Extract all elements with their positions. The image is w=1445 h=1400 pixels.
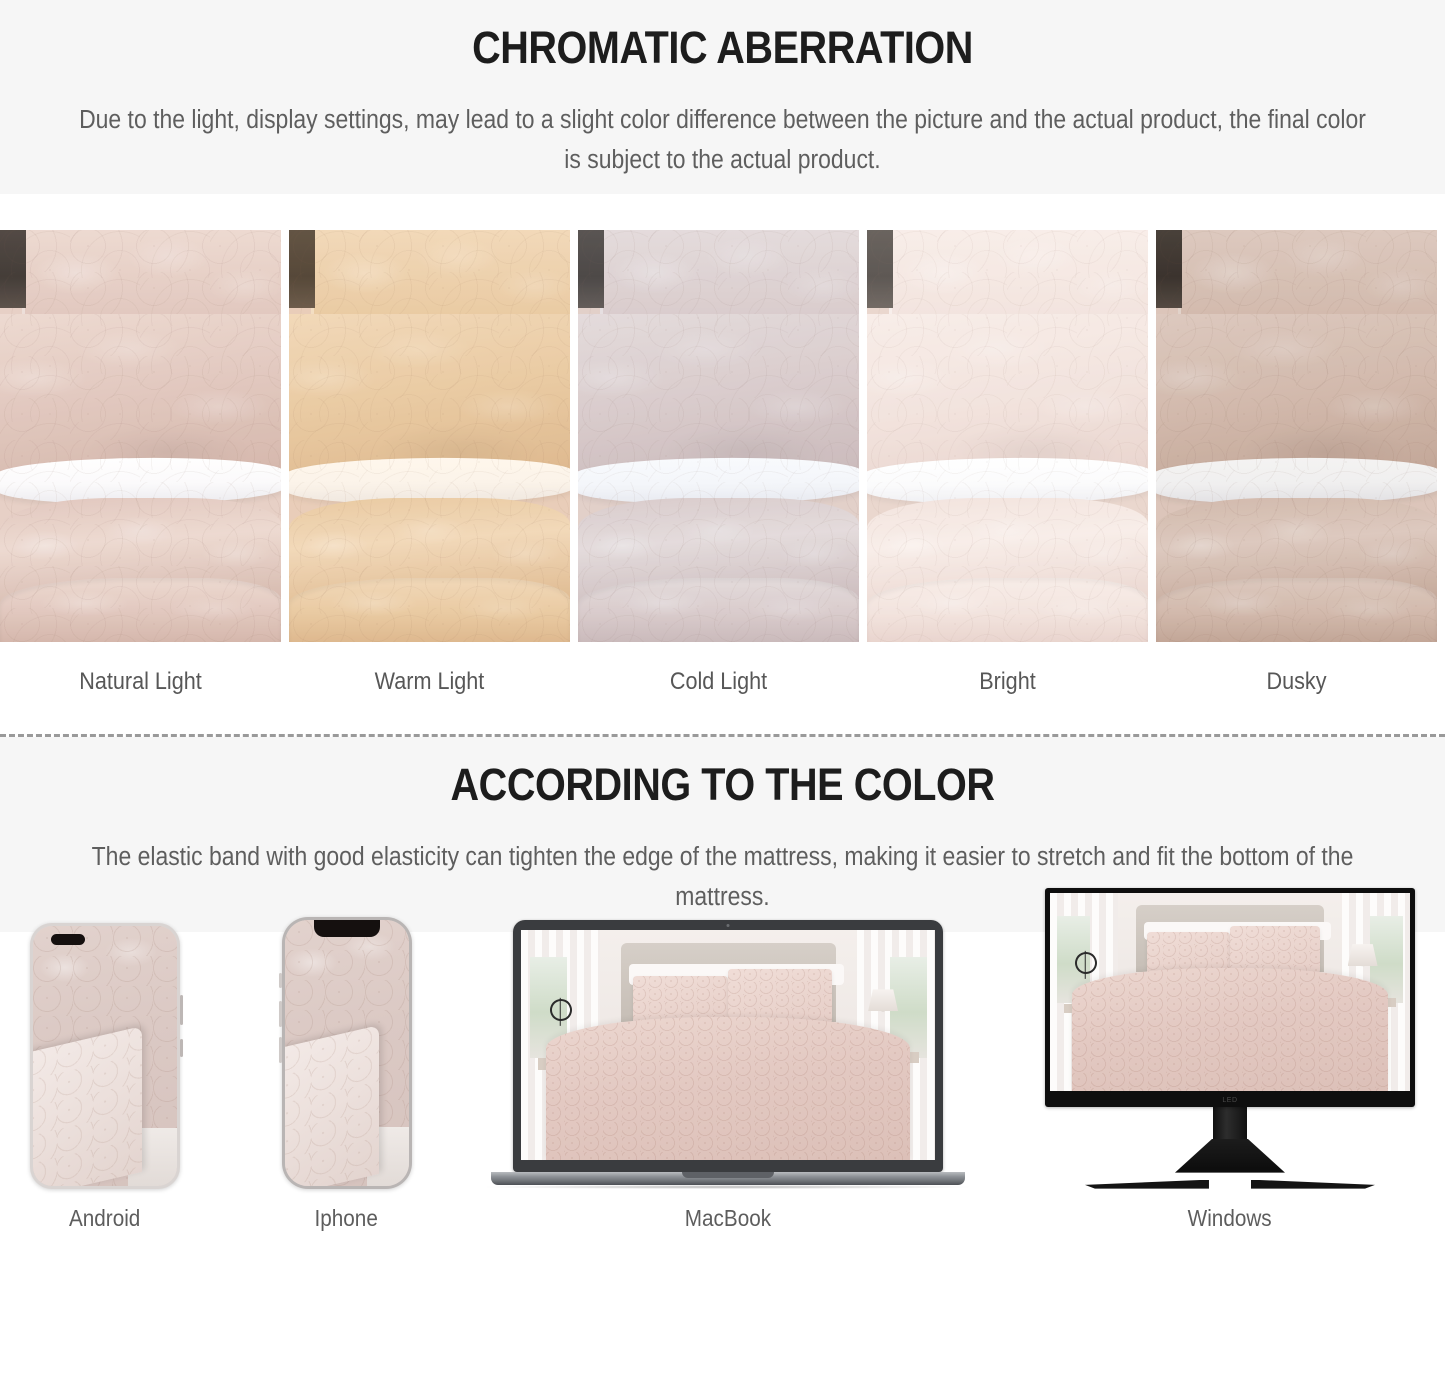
swatch-column: Dusky — [1156, 230, 1437, 696]
pillow-right — [1230, 926, 1320, 974]
monitor-screen — [1050, 893, 1410, 1091]
power-button[interactable] — [180, 1039, 183, 1057]
quilt-lower — [867, 578, 1148, 642]
bedding-closeup — [0, 230, 281, 642]
chromatic-aberration-section: CHROMATIC ABERRATION Due to the light, d… — [0, 0, 1445, 737]
lighting-swatch-image — [578, 230, 859, 642]
quilt-lower — [1156, 578, 1437, 642]
device-macbook: MacBook — [513, 920, 943, 1232]
quilt-lower — [0, 578, 281, 642]
quilted-pillow — [600, 230, 859, 320]
monitor-legs — [1085, 1173, 1375, 1189]
bedroom-photo — [1050, 893, 1410, 1091]
monitor-brand-label: LED — [1222, 1097, 1237, 1104]
quilt-upper — [1156, 314, 1437, 474]
monitor-leg-left — [1085, 1180, 1209, 1189]
chromatic-banner: CHROMATIC ABERRATION Due to the light, d… — [0, 0, 1445, 194]
monitor-bezel: LED — [1045, 888, 1415, 1107]
quilt-lower — [289, 578, 570, 642]
color-title: ACCORDING TO THE COLOR — [87, 759, 1359, 811]
volume-button[interactable] — [180, 995, 183, 1025]
swatch-column: Natural Light — [0, 230, 281, 696]
quilted-pillow — [1178, 230, 1437, 320]
according-to-color-section: ACCORDING TO THE COLOR The elastic band … — [0, 737, 1445, 1231]
macbook-screen — [521, 930, 935, 1160]
quilted-pillow — [889, 230, 1148, 320]
device-mockup-row: Android Iphone — [0, 932, 1445, 1232]
lighting-swatch-image — [1156, 230, 1437, 642]
swatch-label: Natural Light — [14, 642, 267, 696]
swatch-label: Warm Light — [303, 642, 556, 696]
mute-switch[interactable] — [279, 973, 282, 988]
lighting-swatch-row: Natural LightWarm LightCold LightBrightD… — [0, 194, 1445, 696]
macbook-shadow — [487, 1185, 969, 1189]
headboard-edge — [0, 230, 26, 308]
swatch-column: Cold Light — [578, 230, 859, 696]
quilt-upper — [578, 314, 859, 474]
bedding-closeup — [289, 230, 570, 642]
quilted-pillow — [22, 230, 281, 320]
monitor-foot — [1175, 1139, 1285, 1173]
bedding-closeup — [867, 230, 1148, 642]
quilt-bedspread — [546, 1017, 910, 1160]
quilt-upper — [289, 314, 570, 474]
device-iphone: Iphone — [282, 917, 412, 1232]
headboard-edge — [578, 230, 604, 308]
quilt-lower — [578, 578, 859, 642]
notch-icon — [314, 920, 380, 937]
monitor-frame: LED — [1045, 888, 1415, 1189]
iphone-screen — [285, 920, 409, 1186]
android-screen — [33, 926, 177, 1186]
table-lamp-icon — [868, 989, 898, 1011]
lighting-swatch-image — [0, 230, 281, 642]
iphone-frame — [282, 917, 412, 1189]
device-caption-macbook: MacBook — [685, 1205, 771, 1232]
lid-notch — [682, 1172, 774, 1178]
swatch-label: Cold Light — [592, 642, 845, 696]
monitor-neck — [1213, 1107, 1247, 1139]
headboard-edge — [1156, 230, 1182, 308]
device-caption-android: Android — [69, 1205, 140, 1232]
lighting-swatch-image — [867, 230, 1148, 642]
swatch-column: Warm Light — [289, 230, 570, 696]
quilted-pillow — [311, 230, 570, 320]
device-caption-iphone: Iphone — [315, 1205, 378, 1232]
quilt-fold — [285, 1025, 379, 1186]
chromatic-subtitle: Due to the light, display settings, may … — [72, 100, 1373, 181]
device-windows: LED Windows — [1045, 888, 1415, 1232]
monitor-leg-right — [1251, 1180, 1375, 1189]
bedroom-photo — [521, 930, 935, 1160]
lighting-swatch-image — [289, 230, 570, 642]
infographic-page: CHROMATIC ABERRATION Due to the light, d… — [0, 0, 1445, 1400]
macbook-base — [491, 1172, 965, 1185]
pillow-right — [728, 969, 832, 1024]
macbook-frame — [513, 920, 943, 1189]
macbook-lid — [513, 920, 943, 1172]
table-lamp-icon — [1348, 944, 1378, 966]
section-divider — [0, 734, 1445, 737]
swatch-label: Dusky — [1170, 642, 1423, 696]
quilt-fold — [33, 1026, 142, 1186]
quilt-upper — [0, 314, 281, 474]
quilt-upper — [867, 314, 1148, 474]
webcam-icon — [727, 924, 730, 927]
volume-down-button[interactable] — [279, 1037, 282, 1063]
swatch-column: Bright — [867, 230, 1148, 696]
chromatic-title: CHROMATIC ABERRATION — [87, 22, 1359, 74]
device-android: Android — [30, 923, 180, 1232]
volume-up-button[interactable] — [279, 1001, 282, 1027]
bedding-closeup — [578, 230, 859, 642]
bedding-closeup — [1156, 230, 1437, 642]
swatch-label: Bright — [881, 642, 1134, 696]
device-caption-windows: Windows — [1188, 1205, 1272, 1232]
camera-punch-hole-icon — [51, 934, 85, 945]
android-phone-frame — [30, 923, 180, 1189]
quilt-bedspread — [1072, 968, 1389, 1091]
headboard-edge — [867, 230, 893, 308]
headboard-edge — [289, 230, 315, 308]
